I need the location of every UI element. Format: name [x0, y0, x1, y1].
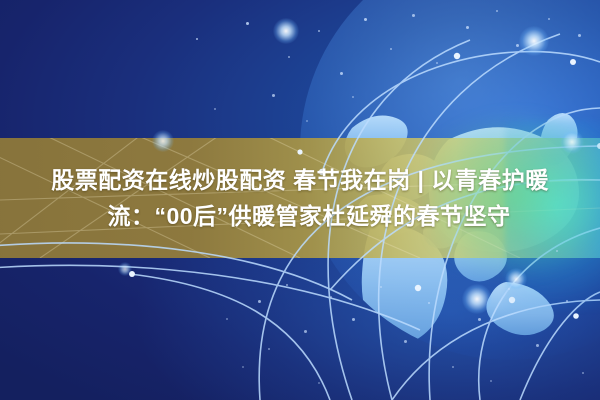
- banner-headline: 股票配资在线炒股配资 春节我在岗 | 以青春护暖 流：“00后”供暖管家杜延舜的…: [0, 138, 600, 258]
- headline-line-1: 股票配资在线炒股配资 春节我在岗 | 以青春护暖: [51, 163, 549, 197]
- headline-line-2: 流：“00后”供暖管家杜延舜的春节坚守: [89, 199, 510, 233]
- article-banner-image: 股票配资在线炒股配资 春节我在岗 | 以青春护暖 流：“00后”供暖管家杜延舜的…: [0, 0, 600, 400]
